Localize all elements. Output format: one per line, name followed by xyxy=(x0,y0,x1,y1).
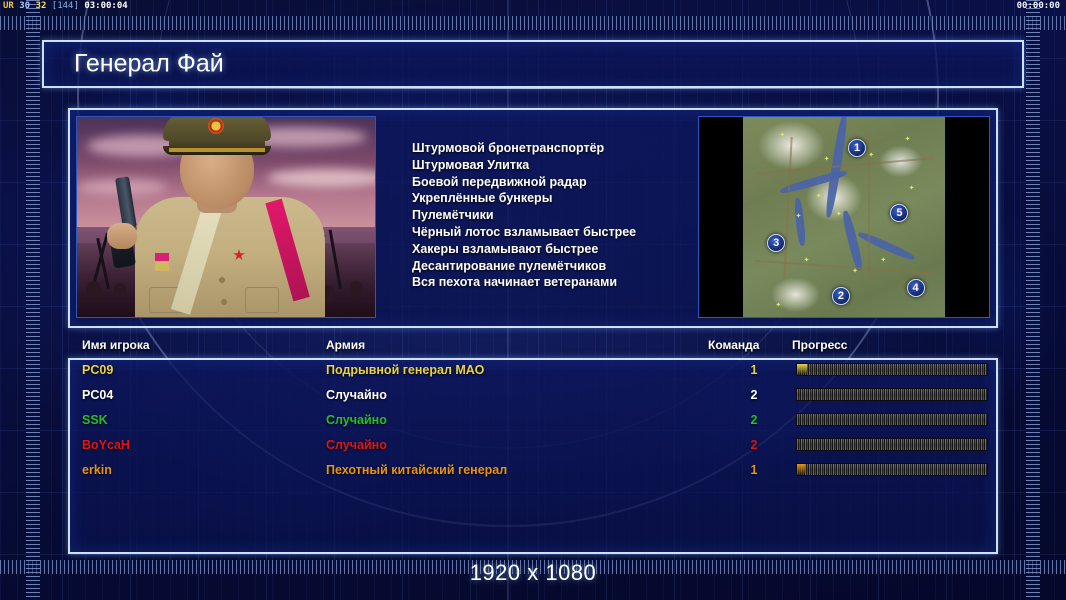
system-stats-overlay: UR 30 32 [144] 03:00:04 xyxy=(3,1,128,11)
resource-marker-icon: ✦ xyxy=(824,157,830,163)
medal-icon xyxy=(155,253,169,271)
ability-item: Штурмовой бронетранспортёр xyxy=(412,140,742,157)
player-army: Случайно xyxy=(326,438,387,452)
uniform-pocket xyxy=(245,287,279,313)
system-stat-clock: 03:00:04 xyxy=(84,1,127,11)
river xyxy=(793,198,806,247)
player-team: 2 xyxy=(747,413,761,427)
column-header-name: Имя игрока xyxy=(82,338,150,352)
portrait-cloud xyxy=(267,169,376,187)
progress-bar xyxy=(796,438,988,451)
start-position-label: 1 xyxy=(854,142,860,154)
progress-bar xyxy=(796,463,988,476)
general-info-panel: Штурмовой бронетранспортёр Штурмовая Ули… xyxy=(68,108,998,328)
player-team: 2 xyxy=(747,438,761,452)
general-portrait xyxy=(76,116,376,318)
player-name: BoYcaH xyxy=(82,438,130,452)
resource-marker-icon: ✦ xyxy=(905,137,911,143)
system-stat-label: UR xyxy=(3,1,14,11)
system-timer: 00:00:00 xyxy=(1017,1,1060,11)
ruler-strip-left xyxy=(26,0,40,600)
ability-item: Боевой передвижной радар xyxy=(412,174,742,191)
player-army: Случайно xyxy=(326,388,387,402)
cap-insignia-icon xyxy=(208,118,224,134)
resolution-label: 1920 x 1080 xyxy=(0,560,1066,586)
ability-item: Хакеры взламывают быстрее xyxy=(412,241,742,258)
start-position-label: 3 xyxy=(773,237,779,249)
player-team: 1 xyxy=(747,363,761,377)
soldier-head xyxy=(113,283,127,299)
progress-bar xyxy=(796,388,988,401)
table-row[interactable]: SSKСлучайно2 xyxy=(68,412,998,437)
minimap-start-position-5[interactable]: 5 xyxy=(890,204,908,222)
player-name: erkin xyxy=(82,463,112,477)
resource-marker-icon: ✦ xyxy=(779,133,785,139)
player-team: 1 xyxy=(747,463,761,477)
resource-marker-icon: ✦ xyxy=(836,212,842,218)
table-row[interactable]: erkinПехотный китайский генерал1 xyxy=(68,462,998,487)
minimap-start-position-4[interactable]: 4 xyxy=(907,279,925,297)
resource-marker-icon: ✦ xyxy=(909,186,915,192)
road xyxy=(755,260,932,274)
progress-bar-fill xyxy=(797,464,805,475)
ability-item: Вся пехота начинает ветеранами xyxy=(412,274,742,291)
general-abilities-list: Штурмовой бронетранспортёр Штурмовая Ули… xyxy=(412,140,742,291)
header-panel: Генерал Фай xyxy=(42,40,1024,88)
progress-bar xyxy=(796,363,988,376)
player-name: PC09 xyxy=(82,363,113,377)
ruler-strip-right xyxy=(1026,0,1040,600)
uniform-button xyxy=(219,277,225,283)
soldier-head xyxy=(349,281,363,297)
cap-gold-stripe xyxy=(169,148,265,152)
minimap-start-position-3[interactable]: 3 xyxy=(767,234,785,252)
road xyxy=(784,137,793,278)
soldier-head xyxy=(87,281,101,297)
system-stat-fps: 30 xyxy=(19,1,30,11)
player-list-header: Имя игрока Армия Команда Прогресс xyxy=(68,338,998,358)
ability-item: Укреплённые бункеры xyxy=(412,190,742,207)
table-row[interactable]: BoYcaHСлучайно2 xyxy=(68,437,998,462)
resource-marker-icon: ✦ xyxy=(816,194,822,200)
resource-marker-icon: ✦ xyxy=(775,303,781,309)
player-team: 2 xyxy=(747,388,761,402)
column-header-progress: Прогресс xyxy=(792,338,847,352)
resource-marker-icon: ✦ xyxy=(804,258,810,264)
river xyxy=(841,210,864,271)
resource-marker-icon: ✦ xyxy=(868,153,874,159)
minimap-start-position-2[interactable]: 2 xyxy=(832,287,850,305)
resource-marker-icon: ✦ xyxy=(852,269,858,275)
player-army: Пехотный китайский генерал xyxy=(326,463,507,477)
start-position-label: 4 xyxy=(913,282,919,294)
uniform-button xyxy=(221,299,227,305)
ability-item: Штурмовая Улитка xyxy=(412,157,742,174)
minimap-frame: ✦ ✦ ✦ ✦ ✦ ✦ ✦ ✦ ✦ ✦ ✦ ✦ 1 2 3 4 5 xyxy=(698,116,990,318)
player-army: Случайно xyxy=(326,413,387,427)
system-stat-bracket: [144] xyxy=(52,1,79,11)
general-hand xyxy=(107,223,137,249)
column-header-team: Команда xyxy=(708,338,759,352)
rifle-silhouette xyxy=(329,230,342,290)
start-position-label: 2 xyxy=(838,290,844,302)
ruler-strip-top xyxy=(0,16,1066,30)
table-row[interactable]: PC09Подрывной генерал МАО1 xyxy=(68,362,998,387)
player-army: Подрывной генерал МАО xyxy=(326,363,484,377)
page-title: Генерал Фай xyxy=(74,50,224,79)
system-stat-value: 32 xyxy=(36,1,47,11)
player-rows: PC09Подрывной генерал МАО1PC04Случайно2S… xyxy=(68,362,998,487)
ability-item: Пулемётчики xyxy=(412,207,742,224)
player-name: SSK xyxy=(82,413,108,427)
ability-item: Чёрный лотос взламывает быстрее xyxy=(412,224,742,241)
progress-bar-fill xyxy=(797,364,807,375)
resource-marker-icon: ✦ xyxy=(796,214,802,220)
resource-marker-icon: ✦ xyxy=(880,258,886,264)
river xyxy=(857,230,916,262)
start-position-label: 5 xyxy=(896,207,902,219)
player-name: PC04 xyxy=(82,388,113,402)
progress-bar xyxy=(796,413,988,426)
table-row[interactable]: PC04Случайно2 xyxy=(68,387,998,412)
minimap-start-position-1[interactable]: 1 xyxy=(848,139,866,157)
ability-item: Десантирование пулемётчиков xyxy=(412,258,742,275)
column-header-army: Армия xyxy=(326,338,365,352)
minimap[interactable]: ✦ ✦ ✦ ✦ ✦ ✦ ✦ ✦ ✦ ✦ ✦ ✦ 1 2 3 4 5 xyxy=(743,117,945,318)
